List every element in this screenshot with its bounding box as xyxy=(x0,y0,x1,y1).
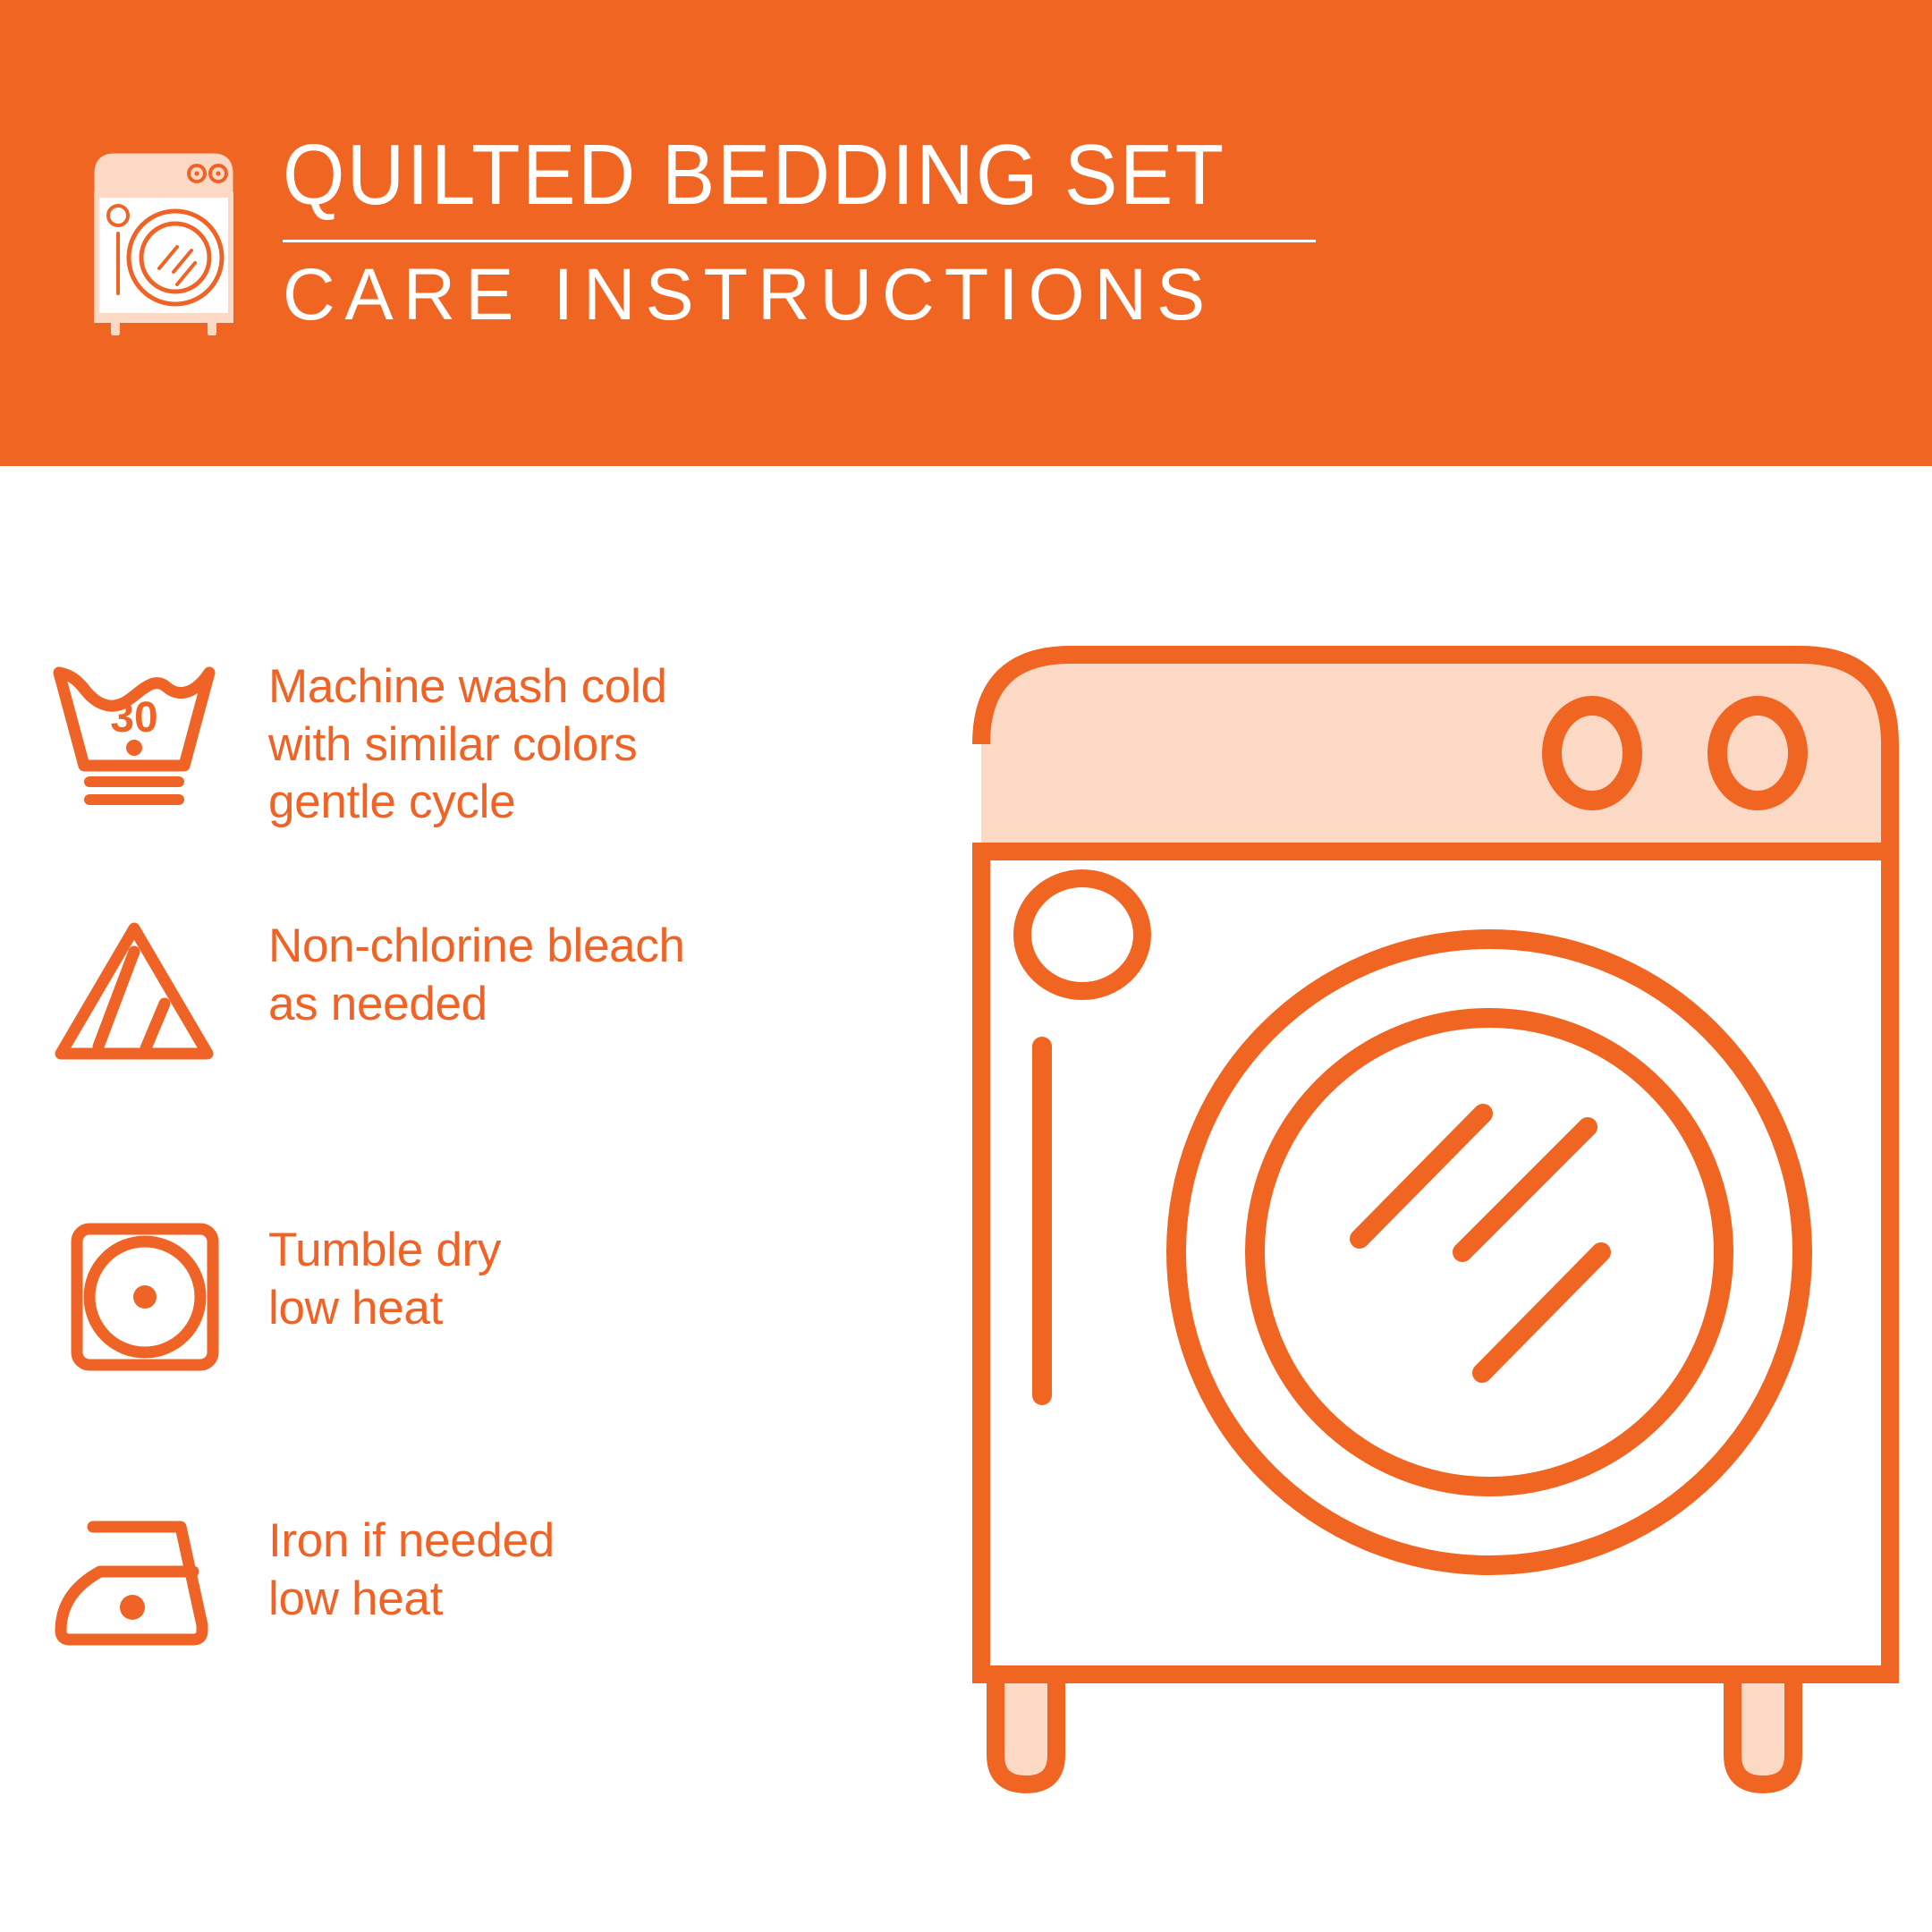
list-item: 30 Machine wash cold with similar colors… xyxy=(0,653,921,832)
wash-tub-30-gentle-icon: 30 xyxy=(0,653,268,814)
instruction-label-iron: Iron if needed low heat xyxy=(268,1507,555,1628)
front-load-washing-machine xyxy=(962,626,1910,1869)
instruction-label-dry: Tumble dry low heat xyxy=(268,1216,501,1337)
leg-left xyxy=(996,1674,1056,1784)
title-divider xyxy=(283,240,1316,242)
control-panel-fill xyxy=(981,655,1890,852)
page-subtitle: CARE INSTRUCTIONS xyxy=(283,258,1305,332)
list-item: Non-chlorine bleach as needed xyxy=(0,912,921,1073)
leg-right xyxy=(1733,1674,1793,1784)
header-content: QUILTED BEDDING SET CARE INSTRUCTIONS xyxy=(88,132,1316,335)
title-block: QUILTED BEDDING SET CARE INSTRUCTIONS xyxy=(283,132,1316,332)
wash-temperature-label: 30 xyxy=(110,694,157,741)
iron-low-heat-icon xyxy=(0,1507,268,1668)
list-item: Tumble dry low heat xyxy=(0,1216,921,1377)
list-item: Iron if needed low heat xyxy=(0,1507,921,1668)
tumble-dry-low-icon xyxy=(0,1216,268,1377)
instruction-label-bleach: Non-chlorine bleach as needed xyxy=(268,912,685,1033)
header-banner: QUILTED BEDDING SET CARE INSTRUCTIONS xyxy=(0,0,1932,466)
instruction-label-wash: Machine wash cold with similar colors ge… xyxy=(268,653,667,832)
washing-machine-icon xyxy=(88,143,240,335)
non-chlorine-bleach-triangle-icon xyxy=(0,912,268,1073)
page-title: QUILTED BEDDING SET xyxy=(283,132,1243,227)
